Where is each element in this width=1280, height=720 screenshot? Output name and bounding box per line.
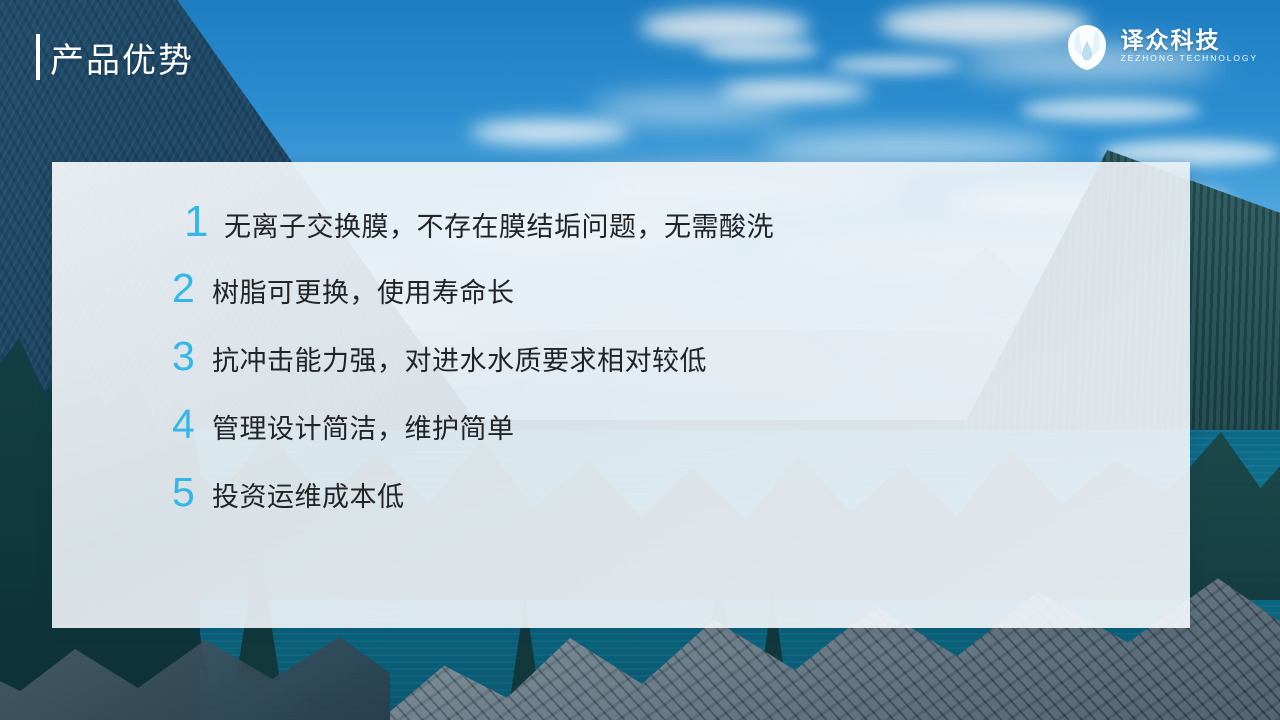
list-item-number: 5 (172, 472, 212, 513)
list-item-text: 抗冲击能力强，对进水水质要求相对较低 (212, 348, 707, 375)
list-item-text: 投资运维成本低 (212, 484, 405, 511)
list-item-number: 3 (172, 336, 212, 377)
slide: 产品优势 译众科技 ZEZHONG TECHNOLOGY 1 无离子交换膜，不存… (0, 0, 1280, 720)
logo-name-cn: 译众科技 (1121, 28, 1258, 52)
lotus-droplet-logo-icon (1061, 21, 1113, 73)
list-item: 5 投资运维成本低 (172, 472, 1150, 540)
list-item: 3 抗冲击能力强，对进水水质要求相对较低 (172, 336, 1150, 404)
brand-logo: 译众科技 ZEZHONG TECHNOLOGY (1061, 18, 1258, 76)
list-item: 4 管理设计简洁，维护简单 (172, 404, 1150, 472)
list-item: 2 树脂可更换，使用寿命长 (172, 268, 1150, 336)
list-item-text: 树脂可更换，使用寿命长 (212, 280, 515, 307)
list-item: 1 无离子交换膜，不存在膜结垢问题，无需酸洗 (172, 200, 1150, 268)
advantages-list: 1 无离子交换膜，不存在膜结垢问题，无需酸洗 2 树脂可更换，使用寿命长 3 抗… (172, 200, 1150, 540)
logo-name-en: ZEZHONG TECHNOLOGY (1121, 52, 1258, 66)
page-title-group: 产品优势 (36, 32, 194, 82)
list-item-text: 管理设计简洁，维护简单 (212, 416, 515, 443)
title-accent-bar (36, 34, 40, 80)
list-item-text: 无离子交换膜，不存在膜结垢问题，无需酸洗 (224, 214, 774, 241)
page-title: 产品优势 (50, 33, 194, 82)
list-item-number: 4 (172, 404, 212, 445)
list-item-number: 2 (172, 268, 212, 309)
list-item-number: 1 (184, 200, 224, 244)
logo-text-block: 译众科技 ZEZHONG TECHNOLOGY (1121, 28, 1258, 66)
content-panel: 1 无离子交换膜，不存在膜结垢问题，无需酸洗 2 树脂可更换，使用寿命长 3 抗… (52, 162, 1190, 628)
